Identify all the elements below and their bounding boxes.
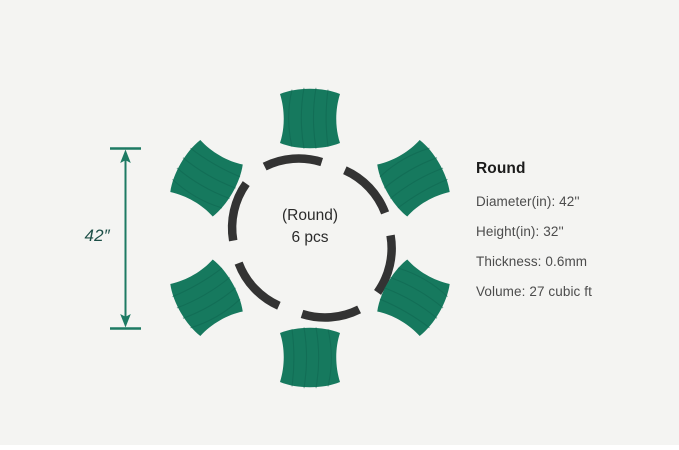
ring-segment [232,184,246,241]
ring-segment [302,309,359,317]
dimension-value-label: 42″ [62,226,110,246]
ring-segment [239,263,279,306]
ring-segment [345,170,385,213]
ring-segments-group [232,158,392,317]
spec-line-volume: Volume: 27 cubic ft [476,284,671,299]
spec-line-thickness: Thickness: 0.6mm [476,254,671,269]
panel-pieces-group [165,88,455,388]
spec-line-height: Height(in): 32'' [476,224,671,239]
round-bed-diagram: (Round) 6 pcs [150,60,470,400]
panel-piece [165,257,248,339]
round-bed-svg [150,60,470,400]
spec-line-diameter: Diameter(in): 42'' [476,194,671,209]
product-spec-illustration: 42″ [0,0,679,445]
spec-panel: Round Diameter(in): 42'' Height(in): 32'… [476,160,671,299]
ring-segment [265,158,322,166]
spec-title: Round [476,160,671,178]
panel-piece [280,88,340,149]
panel-piece [280,327,340,388]
